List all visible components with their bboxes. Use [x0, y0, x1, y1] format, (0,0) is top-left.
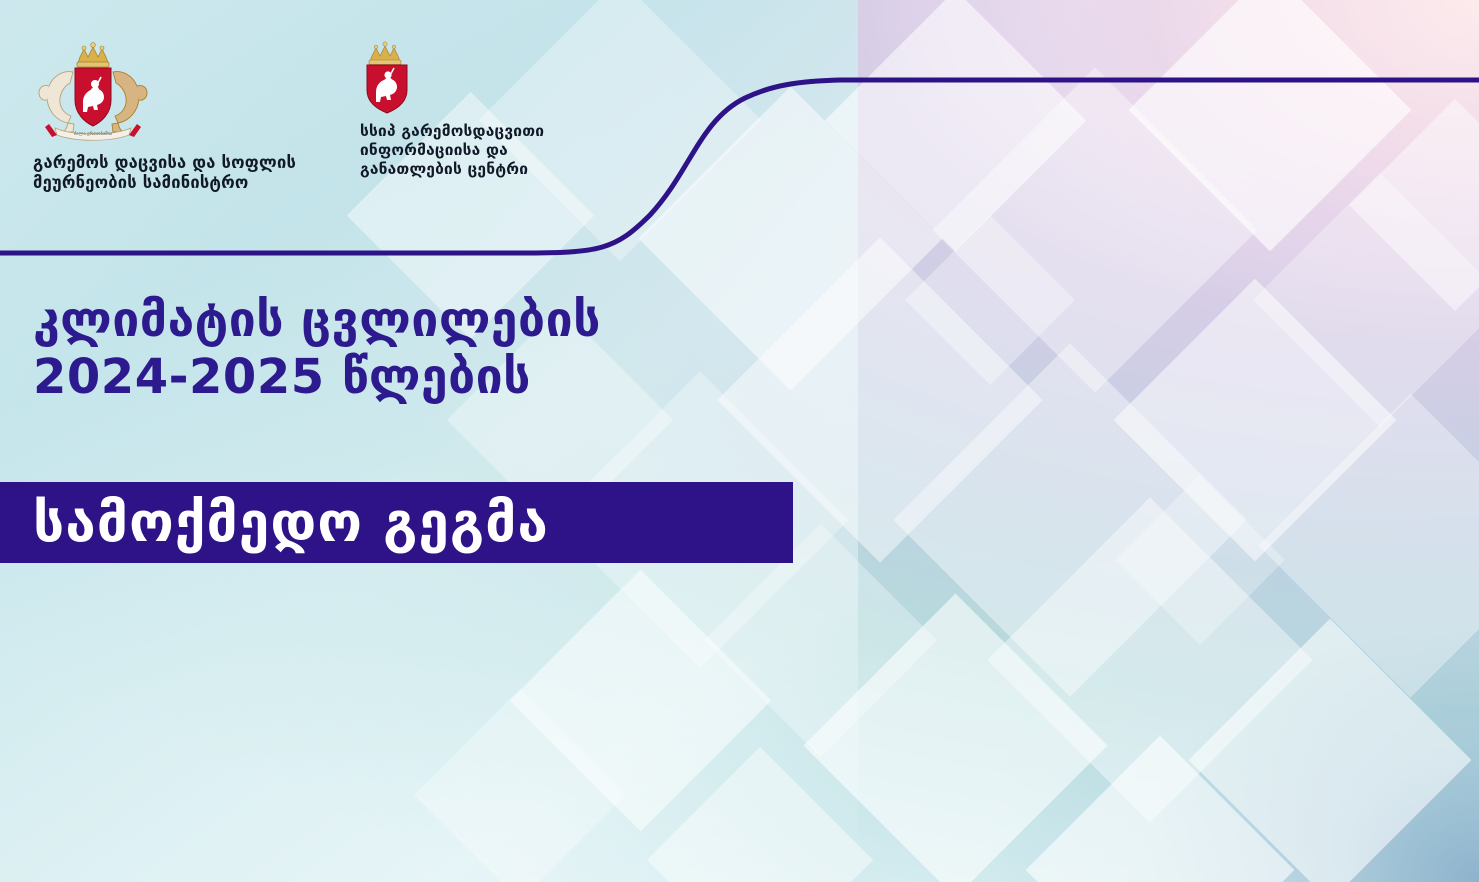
subtitle-banner: სამოქმედო გეგმა: [0, 482, 793, 563]
ministry-name-line1: გარემოს დაცვისა და სოფლის: [33, 153, 303, 173]
ministry-name: გარემოს დაცვისა და სოფლის მეურნეობის სამ…: [33, 153, 303, 193]
report-cover-page: ძალა ერთობაშია გარემოს დაცვისა და სოფლის…: [0, 0, 1479, 882]
eiec-name-line1: სსიპ გარემოსდაცვითი: [360, 122, 610, 141]
ministry-name-line2: მეურნეობის სამინისტრო: [33, 173, 303, 193]
georgia-shield-crown-icon: [360, 40, 610, 118]
cover-header: ძალა ერთობაშია გარემოს დაცვისა და სოფლის…: [0, 0, 1479, 262]
eiec-name-line3: განათლების ცენტრი: [360, 160, 610, 179]
title-line-1: კლიმატის ცვლილების: [33, 292, 933, 349]
eiec-name: სსიპ გარემოსდაცვითი ინფორმაციისა და განა…: [360, 122, 610, 179]
ministry-logo-block: ძალა ერთობაშია გარემოს დაცვისა და სოფლის…: [33, 40, 303, 193]
svg-text:ძალა ერთობაშია: ძალა ერთობაშია: [74, 130, 113, 137]
subtitle-text: სამოქმედო გეგმა: [33, 495, 549, 550]
georgia-coat-of-arms-icon: ძალა ერთობაშია: [33, 40, 303, 147]
logo-row: ძალა ერთობაშია გარემოს დაცვისა და სოფლის…: [0, 40, 640, 210]
eiec-name-line2: ინფორმაციისა და: [360, 141, 610, 160]
eiec-logo-block: სსიპ გარემოსდაცვითი ინფორმაციისა და განა…: [360, 40, 610, 179]
cover-title: კლიმატის ცვლილების 2024-2025 წლების: [33, 292, 933, 405]
title-line-2: 2024-2025 წლების: [33, 349, 933, 406]
